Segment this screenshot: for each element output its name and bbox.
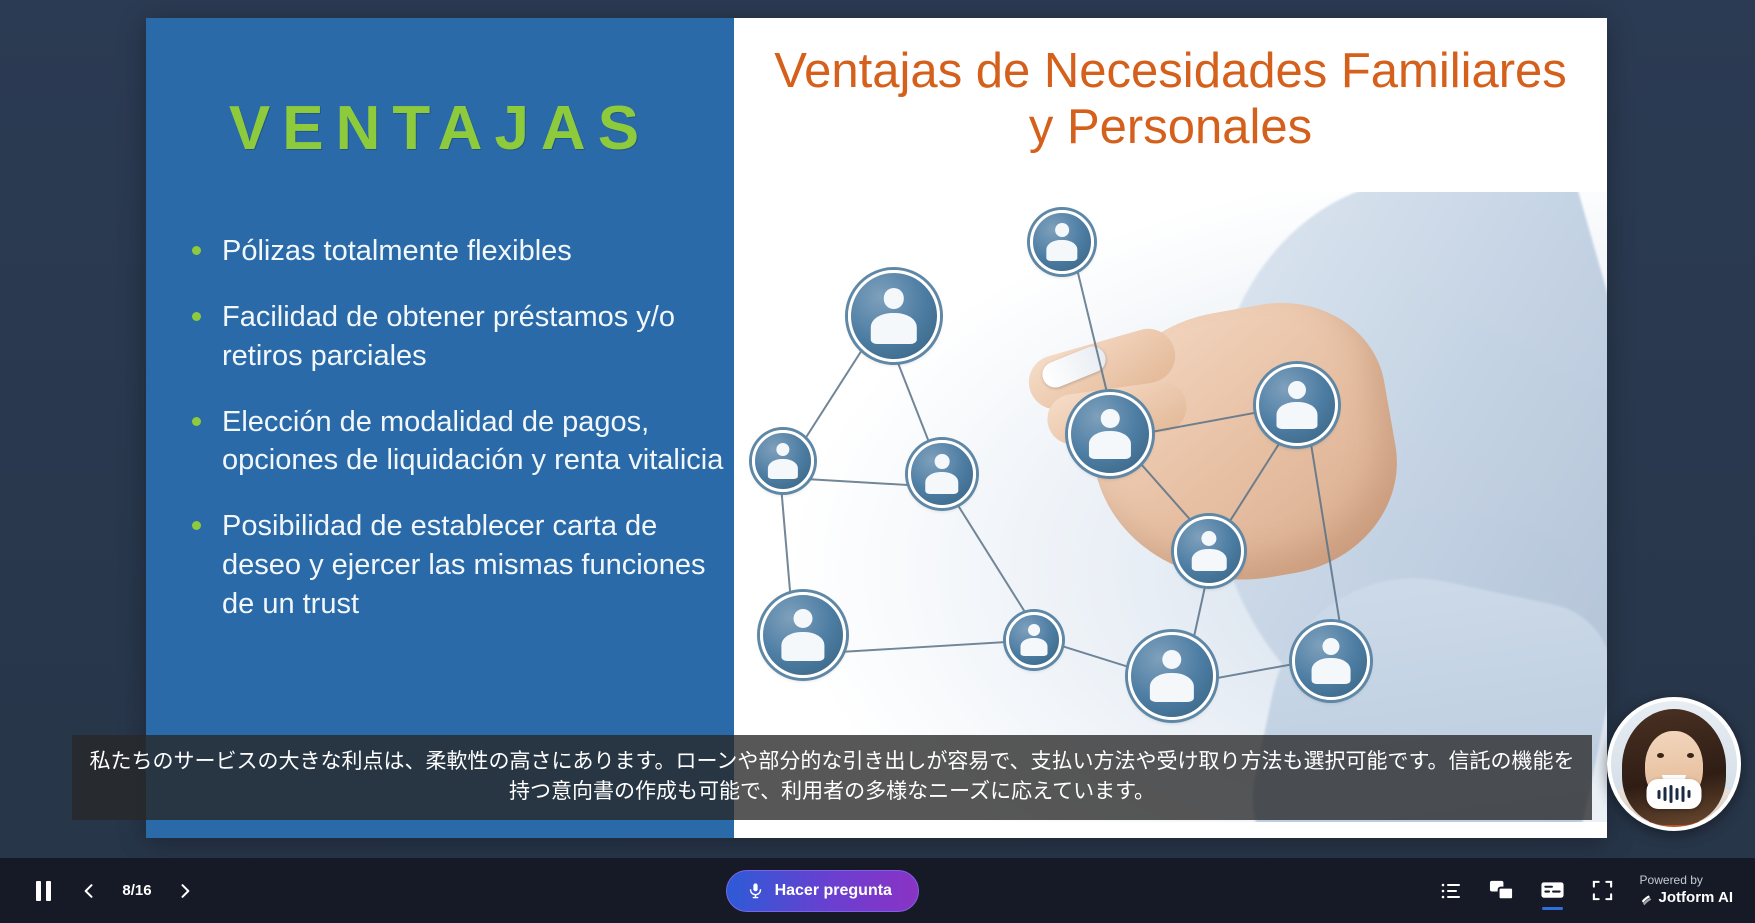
- chat-icon[interactable]: [1489, 878, 1514, 903]
- presentation-player: VENTAJAS Pólizas totalmente flexibles Fa…: [0, 0, 1755, 923]
- slide-stage: VENTAJAS Pólizas totalmente flexibles Fa…: [146, 18, 1607, 838]
- brand-row: Jotform AI: [1640, 888, 1733, 908]
- list-item: Posibilidad de establecer carta de deseo…: [176, 507, 728, 624]
- person-node-icon: [1006, 612, 1062, 668]
- slide-bullet-list: Pólizas totalmente flexibles Facilidad d…: [176, 232, 728, 651]
- person-node-icon: [1030, 210, 1094, 274]
- fullscreen-icon[interactable]: [1591, 879, 1614, 902]
- person-node-icon: [1292, 622, 1370, 700]
- powered-by-jotform[interactable]: Powered by Jotform AI: [1640, 872, 1733, 908]
- chevron-left-icon: [79, 881, 99, 901]
- toolbar-right: Powered by Jotform AI: [1439, 872, 1755, 908]
- person-node-icon: [908, 440, 976, 508]
- subtitle-overlay: 私たちのサービスの大きな利点は、柔軟性の高さにあります。ローンや部分的な引き出し…: [72, 735, 1592, 820]
- person-node-icon: [1174, 516, 1244, 586]
- list-item: Facilidad de obtener préstamos y/o retir…: [176, 298, 728, 376]
- slide-right-panel: Ventajas de Necesidades Familiares y Per…: [734, 18, 1607, 838]
- avatar[interactable]: [1607, 697, 1741, 831]
- microphone-icon: [747, 882, 764, 899]
- ask-question-button[interactable]: Hacer pregunta: [726, 870, 919, 912]
- audio-waveform-icon: [1647, 779, 1702, 809]
- person-node-icon: [752, 430, 814, 492]
- captions-icon[interactable]: [1540, 878, 1565, 903]
- avatar-eye-right: [1687, 753, 1694, 758]
- network-diagram-image: [740, 192, 1607, 822]
- list-item: Pólizas totalmente flexibles: [176, 232, 728, 271]
- pause-button[interactable]: [22, 870, 64, 912]
- person-node-icon: [848, 270, 940, 362]
- player-toolbar: 8/16 Hacer pregunta: [0, 858, 1755, 923]
- outline-icon[interactable]: [1439, 879, 1463, 903]
- toolbar-center: Hacer pregunta: [206, 870, 1439, 912]
- powered-by-label: Powered by: [1640, 872, 1733, 888]
- list-item: Elección de modalidad de pagos, opciones…: [176, 403, 728, 481]
- pause-icon: [36, 881, 51, 901]
- next-slide-button[interactable]: [164, 870, 206, 912]
- slide-left-panel: VENTAJAS Pólizas totalmente flexibles Fa…: [146, 18, 734, 838]
- playback-controls: 8/16: [0, 870, 206, 912]
- chevron-right-icon: [175, 881, 195, 901]
- brand-label: Jotform AI: [1659, 888, 1733, 908]
- person-node-icon: [1128, 632, 1216, 720]
- avatar-eye-left: [1657, 753, 1664, 758]
- person-node-icon: [760, 592, 846, 678]
- prev-slide-button[interactable]: [68, 870, 110, 912]
- page-title: Ventajas de Necesidades Familiares y Per…: [756, 44, 1585, 156]
- slide-heading: VENTAJAS: [146, 93, 734, 164]
- person-node-icon: [1256, 364, 1338, 446]
- slide-counter: 8/16: [114, 882, 160, 899]
- person-node-icon: [1068, 392, 1152, 476]
- ask-question-label: Hacer pregunta: [775, 882, 892, 900]
- jotform-logo-icon: [1640, 891, 1655, 906]
